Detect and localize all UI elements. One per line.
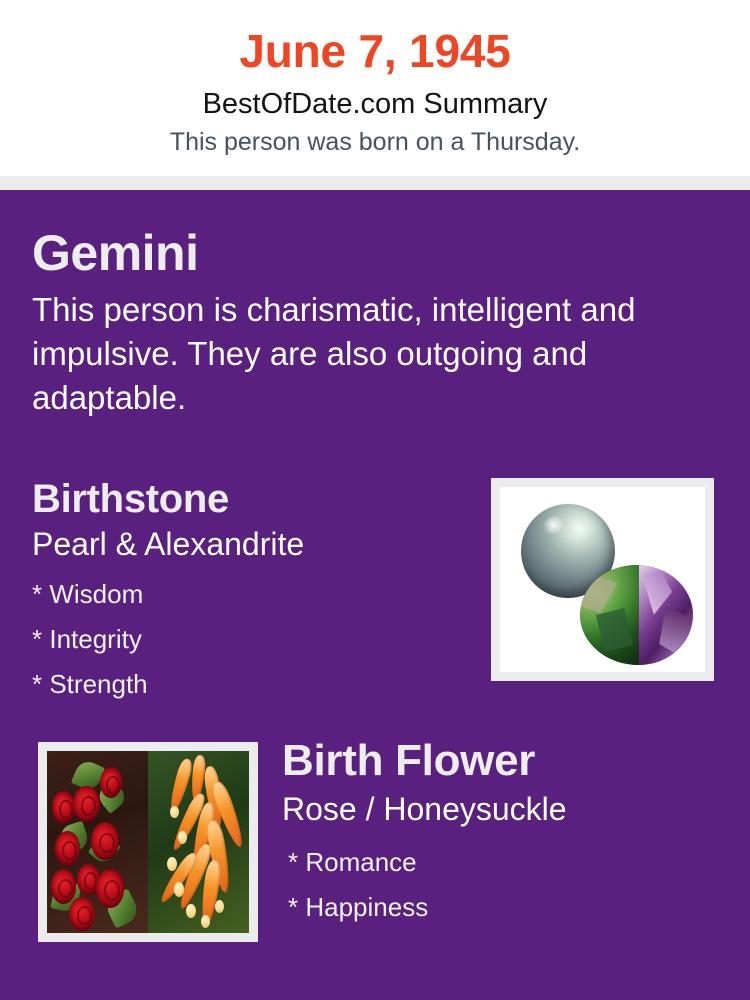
alexandrite-gem-icon bbox=[580, 565, 693, 665]
birthstone-names: Pearl & Alexandrite bbox=[32, 523, 472, 564]
birth-flower-names: Rose / Honeysuckle bbox=[282, 787, 722, 830]
birth-flower-block: Birth Flower Rose / Honeysuckle * Romanc… bbox=[282, 735, 722, 930]
zodiac-description: This person is charismatic, intelligent … bbox=[32, 282, 712, 420]
alexandrite-rough-half bbox=[580, 565, 639, 665]
zodiac-block: Gemini This person is charismatic, intel… bbox=[32, 224, 712, 420]
birthstone-photo-frame bbox=[491, 478, 714, 681]
list-item: * Integrity bbox=[32, 617, 472, 662]
list-item: * Romance bbox=[288, 840, 722, 885]
list-item: * Strength bbox=[32, 662, 472, 707]
birth-flower-trait-list: * Romance * Happiness bbox=[282, 830, 722, 930]
list-item: * Happiness bbox=[288, 885, 722, 930]
birth-flower-photo bbox=[47, 751, 249, 933]
alexandrite-faceted-half bbox=[639, 565, 693, 665]
date-title: June 7, 1945 bbox=[0, 0, 750, 80]
honeysuckle-photo-half bbox=[148, 751, 249, 933]
list-item: * Wisdom bbox=[32, 572, 472, 617]
summary-card: June 7, 1945 BestOfDate.com Summary This… bbox=[0, 0, 750, 1000]
rose-photo-half bbox=[47, 751, 148, 933]
zodiac-sign-name: Gemini bbox=[32, 224, 712, 282]
birth-flower-heading: Birth Flower bbox=[282, 735, 722, 787]
birthstone-heading: Birthstone bbox=[32, 475, 472, 523]
birthstone-photo bbox=[500, 487, 705, 672]
birthstone-block: Birthstone Pearl & Alexandrite * Wisdom … bbox=[32, 475, 472, 707]
birth-flower-photo-frame bbox=[38, 742, 258, 942]
site-summary-label: BestOfDate.com Summary bbox=[0, 80, 750, 122]
card-header: June 7, 1945 BestOfDate.com Summary This… bbox=[0, 0, 750, 176]
header-divider bbox=[0, 176, 750, 190]
birthstone-trait-list: * Wisdom * Integrity * Strength bbox=[32, 564, 472, 707]
weekday-note: This person was born on a Thursday. bbox=[0, 122, 750, 158]
